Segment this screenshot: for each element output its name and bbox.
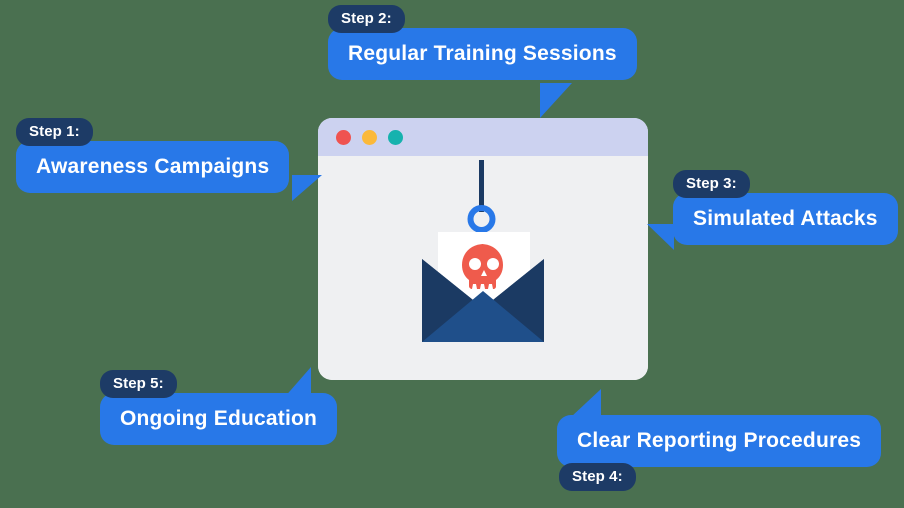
bubble-tail-3 [647,224,674,250]
step-5-tag[interactable]: Step 5: [100,370,177,398]
phishing-email-graphic [318,156,648,380]
browser-titlebar [318,118,648,156]
step-5-label[interactable]: Ongoing Education [100,393,337,445]
minimize-dot [362,130,377,145]
step-4-label[interactable]: Clear Reporting Procedures [557,415,881,467]
step-4-tag[interactable]: Step 4: [559,463,636,491]
step-3-label[interactable]: Simulated Attacks [673,193,898,245]
bubble-tail-1 [292,175,322,201]
step-2-label[interactable]: Regular Training Sessions [328,28,637,80]
step-1-tag[interactable]: Step 1: [16,118,93,146]
close-dot [336,130,351,145]
bubble-tail-2 [540,83,572,118]
maximize-dot [388,130,403,145]
step-2-tag[interactable]: Step 2: [328,5,405,33]
bubble-tail-4 [571,389,601,417]
infographic-canvas: Awareness Campaigns Step 1: Regular Trai… [0,0,904,508]
browser-window-illustration [318,118,648,380]
step-3-tag[interactable]: Step 3: [673,170,750,198]
browser-content-area [318,156,648,380]
step-1-label[interactable]: Awareness Campaigns [16,141,289,193]
